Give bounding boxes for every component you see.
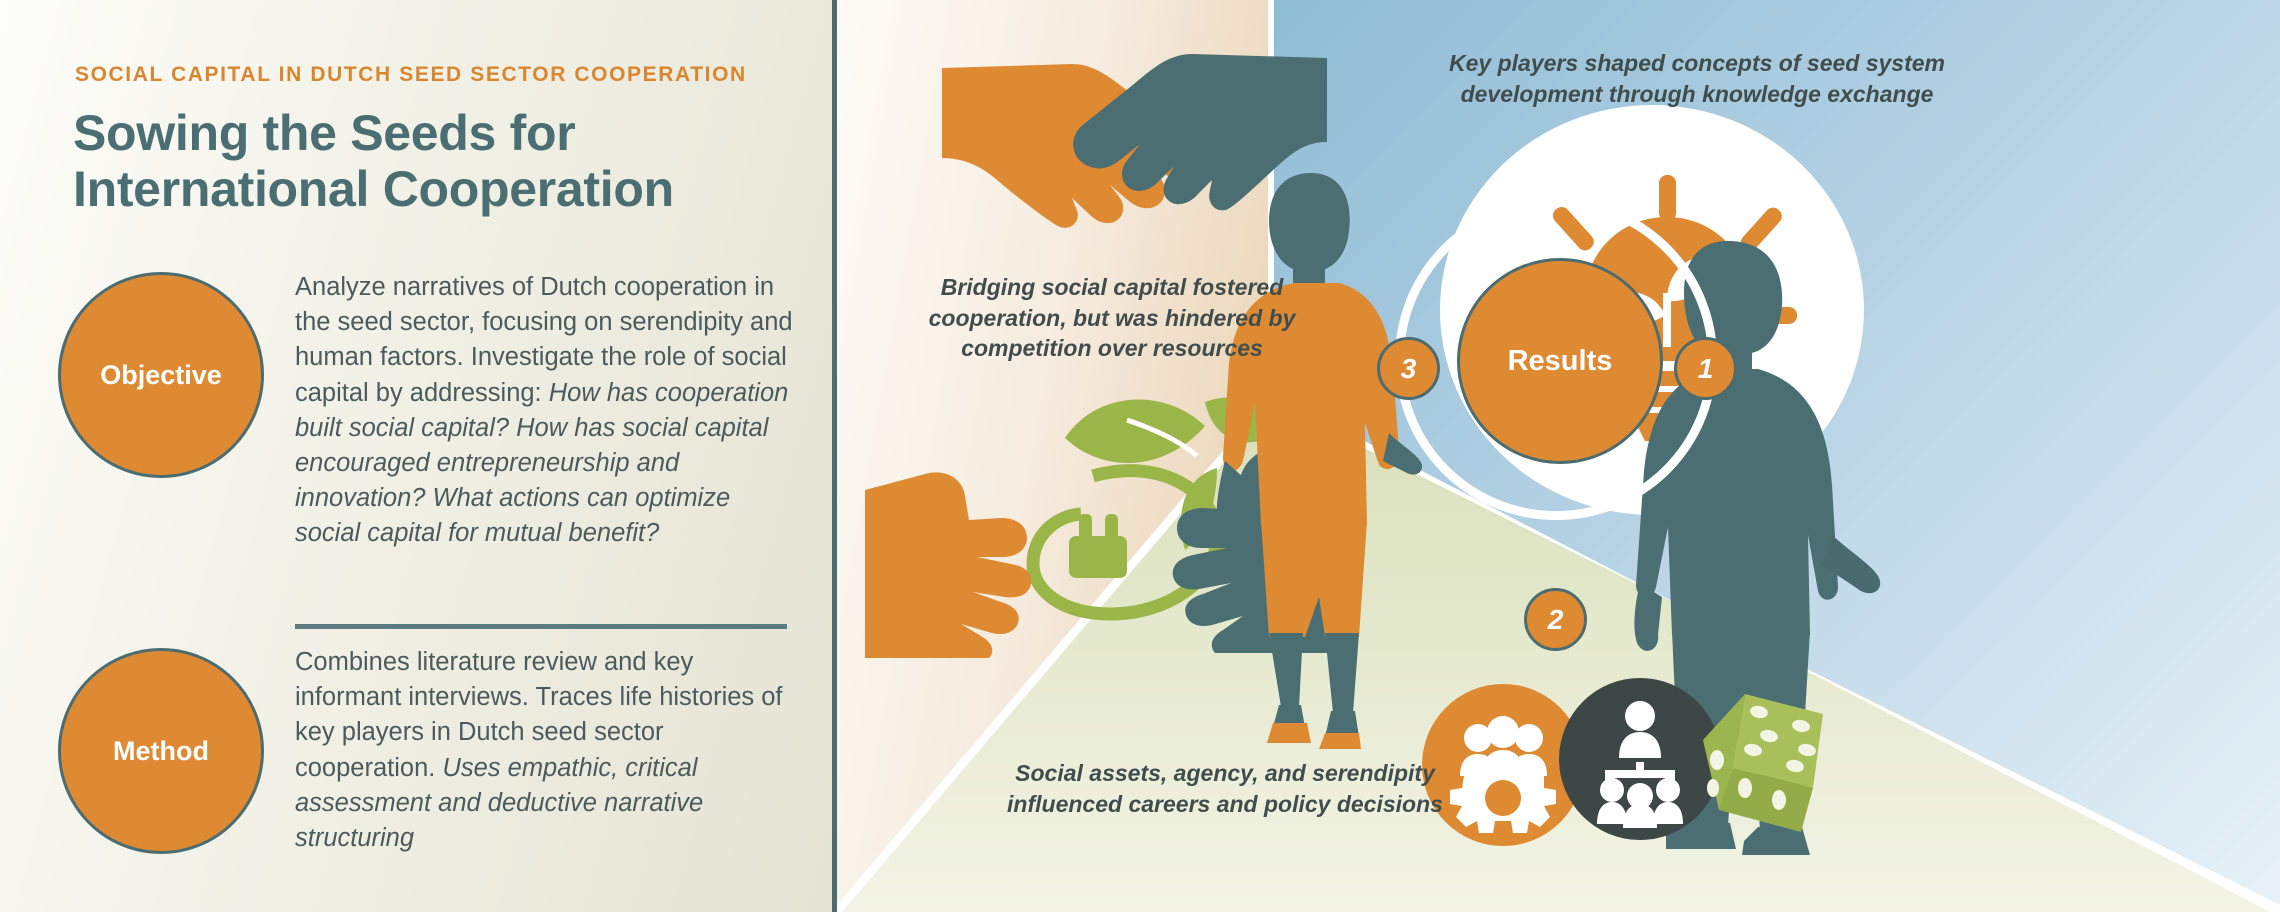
result-badge-1-label: 1 [1698,353,1714,385]
dice-icon [1697,688,1847,838]
objective-badge: Objective [58,272,264,478]
method-text-block: Combines literature review and key infor… [295,645,795,856]
left-panel: SOCIAL CAPITAL IN DUTCH SEED SECTOR COOP… [0,0,835,912]
result-badge-1[interactable]: 1 [1674,337,1737,400]
caption-top-right: Key players shaped concepts of seed syst… [1447,48,1947,109]
method-badge: Method [58,648,264,854]
eyebrow-label: SOCIAL CAPITAL IN DUTCH SEED SECTOR COOP… [75,63,795,87]
result-badge-3-label: 3 [1401,353,1417,385]
result-badge-2-label: 2 [1548,604,1564,636]
results-label: Results [1508,345,1613,378]
objective-badge-label: Objective [100,360,222,391]
title-line-2: International Cooperation [73,161,813,217]
caption-left: Bridging social capital fostered coopera… [892,272,1332,364]
section-divider-rule [295,624,787,629]
title-line-1: Sowing the Seeds for [73,105,813,161]
method-badge-label: Method [113,736,209,767]
caption-bottom: Social assets, agency, and serendipity i… [985,758,1465,819]
results-hub: Results [1457,258,1663,464]
page-title: Sowing the Seeds for International Coope… [73,105,813,217]
woman-silhouette-icon [1207,165,1422,750]
result-badge-2[interactable]: 2 [1524,588,1587,651]
illustration-collage: Results 1 2 3 [837,0,2280,912]
infographic-root: SOCIAL CAPITAL IN DUTCH SEED SECTOR COOP… [0,0,2280,912]
result-badge-3[interactable]: 3 [1377,337,1440,400]
objective-text-block: Analyze narratives of Dutch cooperation … [295,270,795,552]
